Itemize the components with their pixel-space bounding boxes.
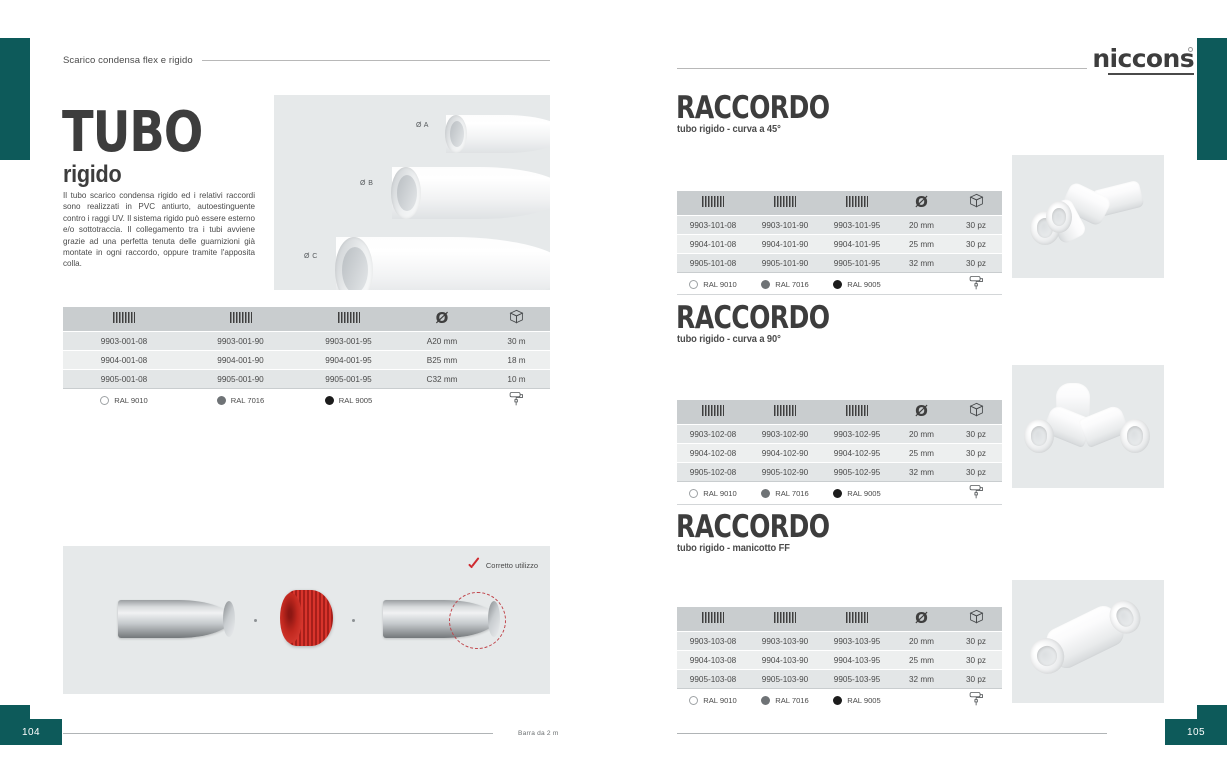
table-body: 9903-102-089903-102-909903-102-9520 mm30… [677, 425, 1002, 505]
section-subtitle-curva90: tubo rigido - curva a 90° [677, 334, 781, 345]
table-cell: 30 m [483, 332, 550, 351]
table-cell: 9905-102-08 [677, 463, 749, 482]
header-barcode-1 [677, 400, 749, 425]
table-cell: 9903-102-90 [749, 425, 821, 444]
check-icon [466, 558, 481, 573]
paintable-cell [483, 389, 550, 412]
socket-graphic [1024, 419, 1054, 453]
table-cell: 9905-102-90 [749, 463, 821, 482]
ral-color-cell: RAL 9010 [677, 689, 749, 712]
table-cell: 30 pz [950, 463, 1002, 482]
table-row: 9905-101-089905-101-909905-101-9532 mm30… [677, 254, 1002, 273]
ral-label: RAL 7016 [775, 489, 809, 498]
table-row: 9905-103-089905-103-909905-103-9532 mm30… [677, 670, 1002, 689]
ral-label: RAL 9010 [114, 396, 148, 405]
paintable-cell [950, 273, 1002, 296]
header-barcode-2 [185, 307, 296, 332]
manicotto-spec-table: Ø 9903-103-089903-103-909903-103-9520 mm… [677, 607, 1002, 711]
table-cell: 9905-103-08 [677, 670, 749, 689]
table-row: 9903-103-089903-103-909903-103-9520 mm30… [677, 632, 1002, 651]
right-page: niccons RACCORDO tubo rigido - curva a 4… [614, 0, 1227, 775]
diameter-icon: Ø [915, 195, 928, 210]
color-swatch [217, 396, 226, 405]
header-diameter: Ø [893, 400, 950, 425]
color-swatch [833, 280, 842, 289]
header-packaging [950, 191, 1002, 216]
table-cell: 9903-001-08 [63, 332, 185, 351]
correct-usage-label: Corretto utilizzo [486, 561, 538, 570]
footnote-left: Barra da 2 m [518, 730, 559, 737]
table-cell: 9905-103-90 [749, 670, 821, 689]
table-cell: 9903-102-95 [821, 425, 893, 444]
table-cell: 9905-102-95 [821, 463, 893, 482]
color-swatch [833, 696, 842, 705]
barcode-icon [702, 196, 724, 207]
barcode-icon [846, 405, 868, 416]
ral-label: RAL 9010 [703, 280, 737, 289]
table-cell: 30 pz [950, 444, 1002, 463]
diameter-icon: Ø [436, 311, 449, 326]
table-header-row: Ø [677, 607, 1002, 632]
ral-color-cell: RAL 7016 [749, 482, 821, 505]
ral-color-cell: RAL 9010 [63, 389, 185, 412]
table-cell: 9903-101-90 [749, 216, 821, 235]
curva45-product-photo [1012, 155, 1164, 278]
box-icon [509, 309, 524, 324]
table-cell: 9905-103-95 [821, 670, 893, 689]
color-swatch [761, 696, 770, 705]
table-cell: 30 pz [950, 425, 1002, 444]
highlight-ring [449, 592, 506, 649]
header-barcode-3 [821, 607, 893, 632]
table-cell: 9904-101-90 [749, 235, 821, 254]
right-head-rule [677, 68, 1087, 69]
color-swatch [761, 280, 770, 289]
table-cell: 9905-001-90 [185, 370, 296, 389]
header-barcode-1 [63, 307, 185, 332]
barcode-icon [846, 612, 868, 623]
table-cell: 9904-101-95 [821, 235, 893, 254]
section-title-curva90: RACCORDO [676, 303, 829, 334]
table-cell: 32 mm [893, 670, 950, 689]
table-cell: 9903-103-95 [821, 632, 893, 651]
box-icon [969, 609, 984, 624]
diameter-icon: Ø [915, 611, 928, 626]
diameter-icon: Ø [915, 404, 928, 419]
table-row: 9904-101-089904-101-909904-101-9525 mm30… [677, 235, 1002, 254]
left-page: Scarico condensa flex e rigido TUBO rigi… [0, 0, 613, 775]
header-diameter: Ø [893, 191, 950, 216]
ral-label: RAL 9005 [339, 396, 373, 405]
ral-color-cell: RAL 7016 [749, 689, 821, 712]
box-icon [969, 402, 984, 417]
left-footer-rule [63, 733, 493, 734]
table-cell: 9904-001-95 [296, 351, 401, 370]
color-swatch [689, 489, 698, 498]
page-subtitle: rigido [63, 163, 121, 187]
table-cell: 20 mm [893, 425, 950, 444]
table-cell: 25 mm [893, 651, 950, 670]
color-swatch [325, 396, 334, 405]
table-cell: 10 m [483, 370, 550, 389]
table-cell: 25 mm [893, 235, 950, 254]
ral-label: RAL 9005 [847, 280, 881, 289]
table-cell: 32 mm [893, 463, 950, 482]
table-cell: 30 pz [950, 254, 1002, 273]
tubo-spec-table: Ø 9903-001-089903-001-909903-001-95A20 m… [63, 307, 550, 411]
box-icon [969, 193, 984, 208]
plus-separator-1 [254, 619, 257, 622]
table-row: 9903-101-089903-101-909903-101-9520 mm30… [677, 216, 1002, 235]
diameter-label-a: Ø A [416, 122, 429, 129]
section-subtitle-manicotto: tubo rigido - manicotto FF [677, 543, 790, 554]
barcode-icon [774, 612, 796, 623]
ral-empty-cell [401, 389, 483, 412]
table-cell: A20 mm [401, 332, 483, 351]
table-cell: 30 pz [950, 632, 1002, 651]
right-footer-rule [677, 733, 1107, 734]
ral-color-cell: RAL 9005 [821, 689, 893, 712]
ral-legend-row: RAL 9010RAL 7016RAL 9005 [677, 482, 1002, 505]
header-barcode-3 [821, 191, 893, 216]
table-cell: 25 mm [893, 444, 950, 463]
ral-legend-row: RAL 9010RAL 7016RAL 9005 [63, 389, 550, 412]
table-row: 9904-102-089904-102-909904-102-9525 mm30… [677, 444, 1002, 463]
pipe-step-1-graphic [118, 600, 231, 638]
barcode-icon [702, 405, 724, 416]
table-cell: 9903-102-08 [677, 425, 749, 444]
table-cell: 9903-001-95 [296, 332, 401, 351]
table-cell: 9903-103-90 [749, 632, 821, 651]
correct-usage-note: Corretto utilizzo [466, 558, 538, 573]
table-cell: 9904-103-95 [821, 651, 893, 670]
table-cell: 32 mm [893, 254, 950, 273]
barcode-icon [774, 196, 796, 207]
ral-empty-cell [893, 482, 950, 505]
ral-color-cell: RAL 9005 [296, 389, 401, 412]
ral-color-cell: RAL 9005 [821, 482, 893, 505]
registered-mark [1188, 47, 1193, 52]
page-number-right: 105 [1165, 719, 1227, 745]
table-cell: 20 mm [893, 216, 950, 235]
table-cell: 9903-103-08 [677, 632, 749, 651]
socket-graphic [1046, 201, 1072, 233]
color-swatch [689, 280, 698, 289]
header-barcode-2 [749, 607, 821, 632]
table-row: 9904-001-089904-001-909904-001-95B25 mm1… [63, 351, 550, 370]
ral-label: RAL 9010 [703, 489, 737, 498]
running-head-rule [202, 60, 550, 61]
table-cell: 9903-001-90 [185, 332, 296, 351]
brand-underline [1108, 73, 1194, 75]
diameter-label-c: Ø C [304, 253, 318, 260]
paintable-cell [950, 482, 1002, 505]
ral-color-cell: RAL 9005 [821, 273, 893, 296]
table-body: 9903-103-089903-103-909903-103-9520 mm30… [677, 632, 1002, 712]
header-barcode-1 [677, 607, 749, 632]
diameter-label-b: Ø B [360, 180, 373, 187]
section-subtitle-curva45: tubo rigido - curva a 45° [677, 124, 781, 135]
ral-color-cell: RAL 9010 [677, 273, 749, 296]
table-row: 9904-103-089904-103-909904-103-9525 mm30… [677, 651, 1002, 670]
barcode-icon [702, 612, 724, 623]
table-cell: 9903-101-08 [677, 216, 749, 235]
header-diameter: Ø [401, 307, 483, 332]
page-number-left: 104 [0, 719, 62, 745]
table-cell: 9905-001-08 [63, 370, 185, 389]
barcode-icon [774, 405, 796, 416]
barcode-icon [230, 312, 252, 323]
product-description: Il tubo scarico condensa rigido ed i rel… [63, 190, 255, 270]
ral-legend-row: RAL 9010RAL 7016RAL 9005 [677, 689, 1002, 712]
table-cell: 9905-001-95 [296, 370, 401, 389]
socket-graphic [1120, 419, 1150, 453]
ral-legend-row: RAL 9010RAL 7016RAL 9005 [677, 273, 1002, 296]
paint-roller-icon [968, 484, 985, 500]
table-body: 9903-101-089903-101-909903-101-9520 mm30… [677, 216, 1002, 296]
running-head: Scarico condensa flex e rigido [63, 55, 550, 66]
paint-roller-icon [968, 691, 985, 707]
header-packaging [950, 607, 1002, 632]
ral-label: RAL 7016 [775, 280, 809, 289]
table-cell: 9904-101-08 [677, 235, 749, 254]
pipe-b-graphic [392, 167, 550, 219]
section-title-manicotto: RACCORDO [676, 512, 829, 543]
ral-empty-cell [893, 689, 950, 712]
ral-color-cell: RAL 7016 [749, 273, 821, 296]
curva90-spec-table: Ø 9903-102-089903-102-909903-102-9520 mm… [677, 400, 1002, 504]
ral-label: RAL 7016 [231, 396, 265, 405]
table-cell: 9905-101-95 [821, 254, 893, 273]
ral-color-cell: RAL 7016 [185, 389, 296, 412]
ral-label: RAL 9005 [847, 696, 881, 705]
ral-label: RAL 9005 [847, 489, 881, 498]
paintable-cell [950, 689, 1002, 712]
barcode-icon [338, 312, 360, 323]
section-divider-2 [677, 504, 1002, 505]
paint-roller-icon [968, 275, 985, 291]
section-divider-1 [677, 294, 1002, 295]
table-cell: 9903-101-95 [821, 216, 893, 235]
ral-label: RAL 9010 [703, 696, 737, 705]
table-cell: 9904-102-08 [677, 444, 749, 463]
ral-label: RAL 7016 [775, 696, 809, 705]
table-cell: 30 pz [950, 216, 1002, 235]
table-body: 9903-001-089903-001-909903-001-95A20 mm3… [63, 332, 550, 412]
table-cell: 9905-101-90 [749, 254, 821, 273]
running-head-label: Scarico condensa flex e rigido [63, 55, 193, 66]
barcode-icon [113, 312, 135, 323]
color-swatch [689, 696, 698, 705]
table-cell: 9904-102-95 [821, 444, 893, 463]
table-cell: 20 mm [893, 632, 950, 651]
color-swatch [833, 489, 842, 498]
brand-name: niccons [1092, 46, 1194, 71]
table-row: 9905-001-089905-001-909905-001-95C32 mm1… [63, 370, 550, 389]
color-swatch [100, 396, 109, 405]
barcode-icon [846, 196, 868, 207]
table-header-row: Ø [677, 191, 1002, 216]
table-cell: 30 pz [950, 651, 1002, 670]
plus-separator-2 [352, 619, 355, 622]
header-barcode-1 [677, 191, 749, 216]
ral-empty-cell [893, 273, 950, 296]
table-cell: 30 pz [950, 235, 1002, 254]
process-illustration-photo: Corretto utilizzo [63, 546, 550, 694]
pipe-c-graphic [336, 237, 550, 290]
curva45-spec-table: Ø 9903-101-089903-101-909903-101-9520 mm… [677, 191, 1002, 295]
ral-color-cell: RAL 9010 [677, 482, 749, 505]
manicotto-product-photo [1012, 580, 1164, 703]
paint-roller-icon [508, 391, 525, 407]
table-cell: 9904-103-90 [749, 651, 821, 670]
table-row: 9905-102-089905-102-909905-102-9532 mm30… [677, 463, 1002, 482]
header-barcode-2 [749, 191, 821, 216]
table-header-row: Ø [63, 307, 550, 332]
header-barcode-2 [749, 400, 821, 425]
header-barcode-3 [296, 307, 401, 332]
tubo-diagram-photo: Ø A Ø B Ø C [274, 95, 550, 290]
table-cell: 18 m [483, 351, 550, 370]
header-barcode-3 [821, 400, 893, 425]
pipe-a-graphic [446, 115, 550, 153]
table-cell: 9904-102-90 [749, 444, 821, 463]
table-cell: C32 mm [401, 370, 483, 389]
table-cell: 9904-001-08 [63, 351, 185, 370]
curva90-product-photo [1012, 365, 1164, 488]
table-cell: 30 pz [950, 670, 1002, 689]
header-packaging [950, 400, 1002, 425]
table-header-row: Ø [677, 400, 1002, 425]
section-title-curva45: RACCORDO [676, 93, 829, 124]
header-packaging [483, 307, 550, 332]
brand-logo: niccons [1092, 46, 1194, 75]
table-cell: B25 mm [401, 351, 483, 370]
table-cell: 9904-103-08 [677, 651, 749, 670]
table-cell: 9904-001-90 [185, 351, 296, 370]
table-row: 9903-102-089903-102-909903-102-9520 mm30… [677, 425, 1002, 444]
page-title: TUBO [62, 105, 202, 161]
table-row: 9903-001-089903-001-909903-001-95A20 mm3… [63, 332, 550, 351]
header-diameter: Ø [893, 607, 950, 632]
table-cell: 9905-101-08 [677, 254, 749, 273]
reamer-tool-graphic [285, 590, 333, 646]
color-swatch [761, 489, 770, 498]
